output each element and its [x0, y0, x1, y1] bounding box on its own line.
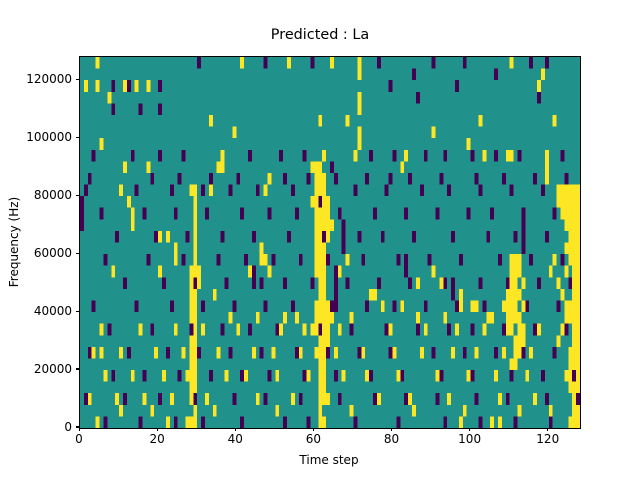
heatmap-cell-high — [357, 127, 361, 139]
heatmap-cell-low — [389, 80, 393, 92]
heatmap-cell-high — [510, 300, 514, 312]
heatmap-cell-high — [217, 161, 221, 173]
heatmap-cell-high — [525, 370, 529, 382]
heatmap-cell-high — [498, 393, 502, 405]
heatmap-cell-high — [557, 185, 561, 197]
heatmap-cell-high — [209, 115, 213, 127]
heatmap-cell-low — [342, 231, 346, 243]
heatmap-cell-low — [451, 277, 455, 289]
heatmap-cell-high — [193, 300, 197, 312]
heatmap-cell-low — [537, 92, 541, 104]
heatmap-cell-high — [514, 254, 518, 266]
heatmap-cell-low — [439, 173, 443, 185]
heatmap-cell-high — [572, 185, 576, 197]
heatmap-cell-high — [564, 243, 568, 255]
x-axis-tick-label: 20 — [149, 432, 164, 446]
heatmap-cell-high — [225, 370, 229, 382]
x-axis-tick-label: 80 — [384, 432, 399, 446]
heatmap-cell-high — [162, 370, 166, 382]
heatmap-cell-high — [299, 347, 303, 359]
heatmap-cell-high — [498, 416, 502, 428]
heatmap-cell-low — [533, 324, 537, 336]
heatmap-cell-low — [178, 173, 182, 185]
heatmap-cell-low — [478, 185, 482, 197]
heatmap-cell-low — [291, 185, 295, 197]
heatmap-cell-high — [357, 92, 361, 104]
heatmap-cell-low — [146, 254, 150, 266]
heatmap-cell-high — [560, 196, 564, 208]
heatmap-cell-high — [482, 324, 486, 336]
heatmap-cell-high — [193, 196, 197, 208]
heatmap-cell-low — [463, 57, 467, 69]
heatmap-cell-low — [260, 347, 264, 359]
heatmap-cell-low — [326, 254, 330, 266]
heatmap-cell-high — [189, 347, 193, 359]
heatmap-cell-low — [396, 254, 400, 266]
heatmap-cell-high — [568, 196, 572, 208]
y-axis-tick-labels: 020000400006000080000100000120000 — [0, 0, 72, 480]
heatmap-cell-high — [318, 358, 322, 370]
heatmap-cell-high — [350, 312, 354, 324]
heatmap-cell-low — [252, 266, 256, 278]
heatmap-cell-high — [303, 324, 307, 336]
heatmap-cell-high — [193, 347, 197, 359]
heatmap-cell-low — [494, 69, 498, 81]
heatmap-cell-low — [459, 254, 463, 266]
heatmap-cell-high — [139, 324, 143, 336]
x-axis-tick-mark — [391, 428, 392, 432]
heatmap-cell-high — [318, 370, 322, 382]
heatmap-cell-high — [322, 254, 326, 266]
x-axis-tick-label: 60 — [306, 432, 321, 446]
heatmap-cell-low — [342, 219, 346, 231]
heatmap-cell-low — [170, 185, 174, 197]
x-axis-label: Time step — [79, 453, 579, 467]
heatmap-cell-low — [545, 393, 549, 405]
heatmap-cell-low — [322, 231, 326, 243]
heatmap-cell-high — [166, 231, 170, 243]
heatmap-cell-low — [182, 254, 186, 266]
heatmap-cell-high — [185, 416, 189, 428]
heatmap-cell-low — [478, 416, 482, 428]
heatmap-cell-high — [326, 324, 330, 336]
heatmap-cell-low — [80, 219, 84, 231]
heatmap-cell-high — [322, 347, 326, 359]
heatmap-cell-high — [318, 208, 322, 220]
x-axis-tick-mark — [79, 428, 80, 432]
heatmap-cell-high — [346, 254, 350, 266]
heatmap-cell-low — [432, 347, 436, 359]
heatmap-cell-low — [127, 80, 131, 92]
heatmap-cell-high — [146, 161, 150, 173]
heatmap-cell-low — [248, 150, 252, 162]
heatmap-cell-high — [576, 231, 580, 243]
heatmap-cell-high — [338, 324, 342, 336]
heatmap-cell-high — [326, 231, 330, 243]
heatmap-cell-high — [572, 231, 576, 243]
heatmap-cell-low — [432, 57, 436, 69]
heatmap-cell-low — [424, 150, 428, 162]
heatmap-cell-low — [268, 208, 272, 220]
heatmap-cell-low — [88, 347, 92, 359]
heatmap-cell-high — [510, 312, 514, 324]
heatmap-cell-high — [228, 312, 232, 324]
heatmap-cell-high — [193, 405, 197, 417]
heatmap-cell-high — [268, 266, 272, 278]
heatmap-cell-low — [475, 173, 479, 185]
heatmap-cell-high — [518, 335, 522, 347]
heatmap-cell-high — [182, 347, 186, 359]
heatmap-cell-high — [506, 150, 510, 162]
heatmap-cell-low — [389, 347, 393, 359]
heatmap-cell-high — [568, 243, 572, 255]
heatmap-cell-low — [393, 150, 397, 162]
heatmap-cell-high — [404, 150, 408, 162]
heatmap-cell-low — [318, 196, 322, 208]
heatmap-cell-high — [314, 266, 318, 278]
heatmap-cell-high — [475, 300, 479, 312]
heatmap-cell-low — [369, 150, 373, 162]
heatmap-cell-high — [322, 173, 326, 185]
heatmap-cell-low — [408, 173, 412, 185]
heatmap-cell-high — [350, 405, 354, 417]
heatmap-cell-low — [92, 300, 96, 312]
heatmap-cell-low — [475, 393, 479, 405]
heatmap-cell-low — [416, 324, 420, 336]
heatmap-cell-high — [322, 266, 326, 278]
heatmap-cell-low — [334, 173, 338, 185]
heatmap-cell-high — [568, 185, 572, 197]
heatmap-cell-low — [490, 208, 494, 220]
heatmap-cell-high — [322, 416, 326, 428]
heatmap-cell-low — [443, 150, 447, 162]
heatmap-cell-high — [557, 335, 561, 347]
heatmap-cell-low — [537, 277, 541, 289]
heatmap-cell-high — [123, 161, 127, 173]
heatmap-cell-high — [572, 382, 576, 394]
heatmap-cell-low — [174, 208, 178, 220]
heatmap-cell-low — [420, 185, 424, 197]
heatmap-cell-high — [322, 150, 326, 162]
heatmap-cell-high — [127, 196, 131, 208]
heatmap-cell-high — [100, 138, 104, 150]
heatmap-cell-low — [123, 393, 127, 405]
heatmap-cell-high — [189, 312, 193, 324]
heatmap-cell-high — [100, 347, 104, 359]
heatmap-cell-high — [396, 370, 400, 382]
heatmap-cell-low — [326, 347, 330, 359]
heatmap-cell-high — [381, 300, 385, 312]
heatmap-cell-low — [447, 324, 451, 336]
heatmap-cell-high — [232, 127, 236, 139]
heatmap-cell-high — [209, 185, 213, 197]
heatmap-cell-high — [553, 115, 557, 127]
heatmap-cell-low — [150, 173, 154, 185]
heatmap-cell-high — [318, 393, 322, 405]
heatmap-cell-high — [545, 173, 549, 185]
heatmap-cell-high — [572, 208, 576, 220]
heatmap-cell-high — [314, 208, 318, 220]
heatmap-cell-high — [318, 243, 322, 255]
heatmap-cell-low — [521, 208, 525, 220]
heatmap-cell-low — [334, 300, 338, 312]
heatmap-cell-high — [435, 370, 439, 382]
heatmap-cell-high — [572, 416, 576, 428]
heatmap-cell-high — [295, 312, 299, 324]
heatmap-cell-high — [201, 324, 205, 336]
heatmap-cell-low — [334, 370, 338, 382]
heatmap-cell-high — [576, 243, 580, 255]
matplotlib-figure: Predicted : La Frequency (Hz) 0200004000… — [0, 0, 640, 480]
heatmap-cell-low — [471, 324, 475, 336]
heatmap-cell-high — [193, 266, 197, 278]
heatmap-cell-high — [521, 300, 525, 312]
heatmap-cell-high — [174, 324, 178, 336]
heatmap-cell-high — [193, 289, 197, 301]
heatmap-cell-low — [572, 370, 576, 382]
heatmap-cell-high — [572, 219, 576, 231]
y-axis-tick-label: 0 — [64, 420, 72, 434]
heatmap-cell-low — [529, 254, 533, 266]
heatmap-cell-high — [189, 393, 193, 405]
heatmap-cell-high — [131, 219, 135, 231]
heatmap-cell-high — [338, 266, 342, 278]
heatmap-cell-high — [576, 416, 580, 428]
heatmap-cell-high — [545, 161, 549, 173]
heatmap-cell-low — [435, 208, 439, 220]
heatmap-cell-high — [322, 312, 326, 324]
heatmap-cell-low — [549, 416, 553, 428]
heatmap-cell-high — [193, 335, 197, 347]
heatmap-cell-high — [318, 405, 322, 417]
heatmap-cell-high — [518, 324, 522, 336]
x-axis-tick-label: 120 — [536, 432, 559, 446]
heatmap-cell-high — [264, 185, 268, 197]
heatmap-cell-low — [201, 185, 205, 197]
heatmap-cell-low — [502, 173, 506, 185]
heatmap-cell-high — [287, 57, 291, 69]
heatmap-cell-high — [193, 243, 197, 255]
heatmap-cell-high — [189, 416, 193, 428]
heatmap-cell-high — [221, 161, 225, 173]
heatmap-cell-high — [314, 219, 318, 231]
heatmap-cell-low — [545, 57, 549, 69]
heatmap-cell-low — [135, 300, 139, 312]
heatmap-cell-low — [127, 347, 131, 359]
heatmap-cell-high — [103, 370, 107, 382]
heatmap-cell-low — [154, 231, 158, 243]
heatmap-cell-high — [158, 266, 162, 278]
heatmap-cell-high — [314, 243, 318, 255]
heatmap-cell-low — [357, 347, 361, 359]
heatmap-cell-high — [506, 312, 510, 324]
heatmap-cell-high — [318, 161, 322, 173]
heatmap-cell-high — [564, 196, 568, 208]
heatmap-cell-high — [314, 231, 318, 243]
heatmap-cell-high — [576, 324, 580, 336]
heatmap-cell-low — [275, 324, 279, 336]
heatmap-cell-low — [557, 300, 561, 312]
y-axis-tick-label: 80000 — [34, 188, 72, 202]
heatmap-cell-high — [115, 393, 119, 405]
heatmap-cell-high — [322, 289, 326, 301]
heatmap-cell-high — [189, 300, 193, 312]
heatmap-cell-low — [404, 254, 408, 266]
heatmap-cell-high — [193, 254, 197, 266]
heatmap-cell-high — [357, 138, 361, 150]
heatmap-cell-high — [346, 115, 350, 127]
heatmap-cell-high — [322, 300, 326, 312]
heatmap-cell-low — [252, 231, 256, 243]
heatmap-cell-low — [209, 370, 213, 382]
heatmap-cell-high — [557, 196, 561, 208]
heatmap-cell-low — [197, 57, 201, 69]
heatmap-cell-low — [369, 370, 373, 382]
heatmap-cell-high — [213, 405, 217, 417]
heatmap-cell-high — [252, 347, 256, 359]
heatmap-cell-low — [521, 219, 525, 231]
heatmap-cell-high — [314, 196, 318, 208]
heatmap-cell-low — [553, 347, 557, 359]
heatmap-cell-high — [193, 185, 197, 197]
heatmap-cell-high — [572, 324, 576, 336]
heatmap-cell-low — [103, 416, 107, 428]
heatmap-cell-high — [514, 289, 518, 301]
heatmap-cell-low — [541, 370, 545, 382]
heatmap-cell-high — [568, 347, 572, 359]
heatmap-cell-high — [123, 80, 127, 92]
heatmap-cell-high — [197, 266, 201, 278]
heatmap-cell-high — [576, 219, 580, 231]
heatmap-cell-high — [568, 358, 572, 370]
heatmap-cell-high — [260, 243, 264, 255]
heatmap-axes[interactable] — [79, 56, 581, 429]
heatmap-cell-high — [143, 393, 147, 405]
heatmap-cell-low — [412, 231, 416, 243]
heatmap-cell-high — [275, 405, 279, 417]
heatmap-cell-high — [318, 115, 322, 127]
heatmap-cell-low — [486, 231, 490, 243]
heatmap-cell-high — [189, 185, 193, 197]
heatmap-cell-high — [314, 312, 318, 324]
heatmap-cell-high — [518, 289, 522, 301]
heatmap-cell-high — [213, 289, 217, 301]
heatmap-cell-high — [576, 277, 580, 289]
heatmap-cell-high — [467, 370, 471, 382]
heatmap-cell-low — [271, 254, 275, 266]
heatmap-cell-low — [467, 208, 471, 220]
heatmap-cell-high — [424, 324, 428, 336]
heatmap-cell-high — [576, 185, 580, 197]
x-axis-tick-label: 100 — [458, 432, 481, 446]
heatmap-cell-high — [572, 300, 576, 312]
heatmap-cell-low — [107, 324, 111, 336]
heatmap-cell-low — [564, 173, 568, 185]
heatmap-cell-high — [189, 335, 193, 347]
heatmap-cell-high — [572, 347, 576, 359]
heatmap-cell-high — [111, 266, 115, 278]
heatmap-cell-high — [572, 312, 576, 324]
heatmap-cell-high — [322, 370, 326, 382]
heatmap-cell-low — [264, 57, 268, 69]
heatmap-cell-high — [193, 358, 197, 370]
heatmap-cell-high — [84, 80, 88, 92]
heatmap-cell-high — [572, 277, 576, 289]
heatmap-cell-low — [310, 277, 314, 289]
heatmap-cell-high — [330, 219, 334, 231]
heatmap-cell-low — [283, 416, 287, 428]
heatmap-cell-low — [346, 277, 350, 289]
heatmap-cell-low — [111, 103, 115, 115]
heatmap-cell-high — [318, 185, 322, 197]
page-title: Predicted : La — [0, 27, 640, 43]
heatmap-cell-high — [326, 196, 330, 208]
heatmap-cell-low — [478, 277, 482, 289]
heatmap-cell-high — [576, 312, 580, 324]
heatmap-cell-high — [537, 80, 541, 92]
heatmap-cell-low — [244, 254, 248, 266]
heatmap-cell-high — [514, 335, 518, 347]
heatmap-cell-high — [197, 277, 201, 289]
heatmap-cell-low — [100, 208, 104, 220]
heatmap-cell-high — [420, 347, 424, 359]
heatmap-cell-low — [295, 208, 299, 220]
heatmap-cell-high — [248, 266, 252, 278]
heatmap-cell-high — [408, 393, 412, 405]
heatmap-cell-high — [560, 289, 564, 301]
heatmap-cell-low — [221, 324, 225, 336]
heatmap-cell-high — [342, 370, 346, 382]
heatmap-cell-low — [80, 196, 84, 208]
heatmap-cell-high — [514, 358, 518, 370]
heatmap-cell-low — [404, 393, 408, 405]
heatmap-cell-low — [545, 231, 549, 243]
heatmap-cell-high — [170, 393, 174, 405]
heatmap-cell-high — [322, 335, 326, 347]
heatmap-cell-high — [193, 416, 197, 428]
heatmap-cell-high — [389, 324, 393, 336]
heatmap-cell-high — [373, 289, 377, 301]
heatmap-cell-high — [478, 115, 482, 127]
heatmap-cell-high — [326, 300, 330, 312]
heatmap-cell-low — [408, 277, 412, 289]
heatmap-cell-low — [510, 370, 514, 382]
heatmap-cell-low — [334, 266, 338, 278]
heatmap-cell-high — [564, 370, 568, 382]
heatmap-cell-low — [111, 370, 115, 382]
heatmap-cell-low — [451, 289, 455, 301]
heatmap-cell-low — [283, 277, 287, 289]
heatmap-cell-high — [193, 382, 197, 394]
heatmap-cell-low — [158, 393, 162, 405]
heatmap-cell-high — [330, 57, 334, 69]
heatmap-cell-high — [502, 347, 506, 359]
x-axis-tick-mark — [313, 428, 314, 432]
heatmap-cell-low — [80, 208, 84, 220]
heatmap-cell-high — [490, 312, 494, 324]
heatmap-cell-high — [314, 185, 318, 197]
heatmap-cell-high — [150, 405, 154, 417]
heatmap-image[interactable] — [80, 57, 580, 428]
heatmap-cell-high — [189, 289, 193, 301]
heatmap-cell-low — [357, 231, 361, 243]
heatmap-cell-high — [568, 208, 572, 220]
heatmap-cell-high — [185, 370, 189, 382]
heatmap-cell-high — [576, 335, 580, 347]
heatmap-cell-high — [432, 266, 436, 278]
heatmap-cell-high — [560, 324, 564, 336]
heatmap-cell-low — [178, 370, 182, 382]
